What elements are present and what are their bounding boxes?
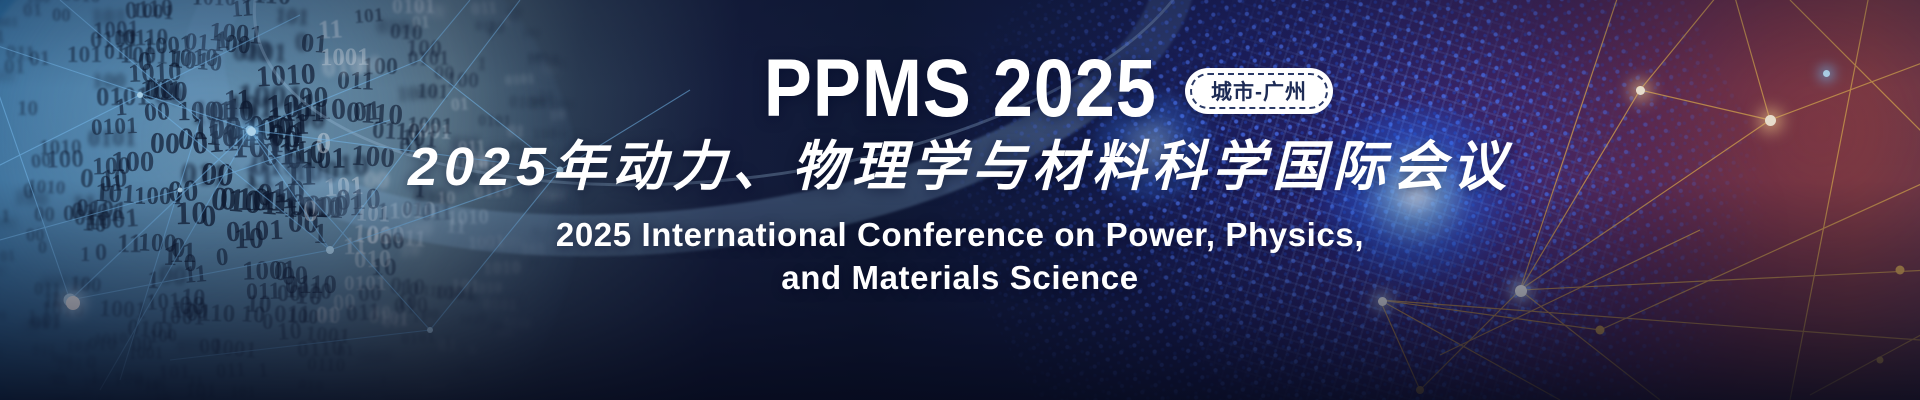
main-title-row: PPMS 2025 — [0, 48, 1920, 130]
english-subtitle-line-1: 2025 International Conference on Power, … — [0, 214, 1920, 256]
chinese-subtitle: 2025年动力、物理学与材料科学国际会议 — [0, 138, 1920, 196]
english-subtitle: 2025 International Conference on Power, … — [0, 214, 1920, 298]
city-badge-label: 城市-广州 — [1211, 76, 1307, 106]
page-title: PPMS 2025 — [763, 48, 1156, 130]
city-badge[interactable]: 城市-广州 — [1185, 68, 1333, 114]
banner-content: PPMS 2025 2025年动力、物理学与材料科学国际会议 2025 Inte… — [0, 0, 1920, 400]
title-block: PPMS 2025 2025年动力、物理学与材料科学国际会议 2025 Inte… — [0, 48, 1920, 299]
conference-banner: 0001011010101010000101110001010111100100… — [0, 0, 1920, 400]
english-subtitle-line-2: and Materials Science — [0, 257, 1920, 299]
